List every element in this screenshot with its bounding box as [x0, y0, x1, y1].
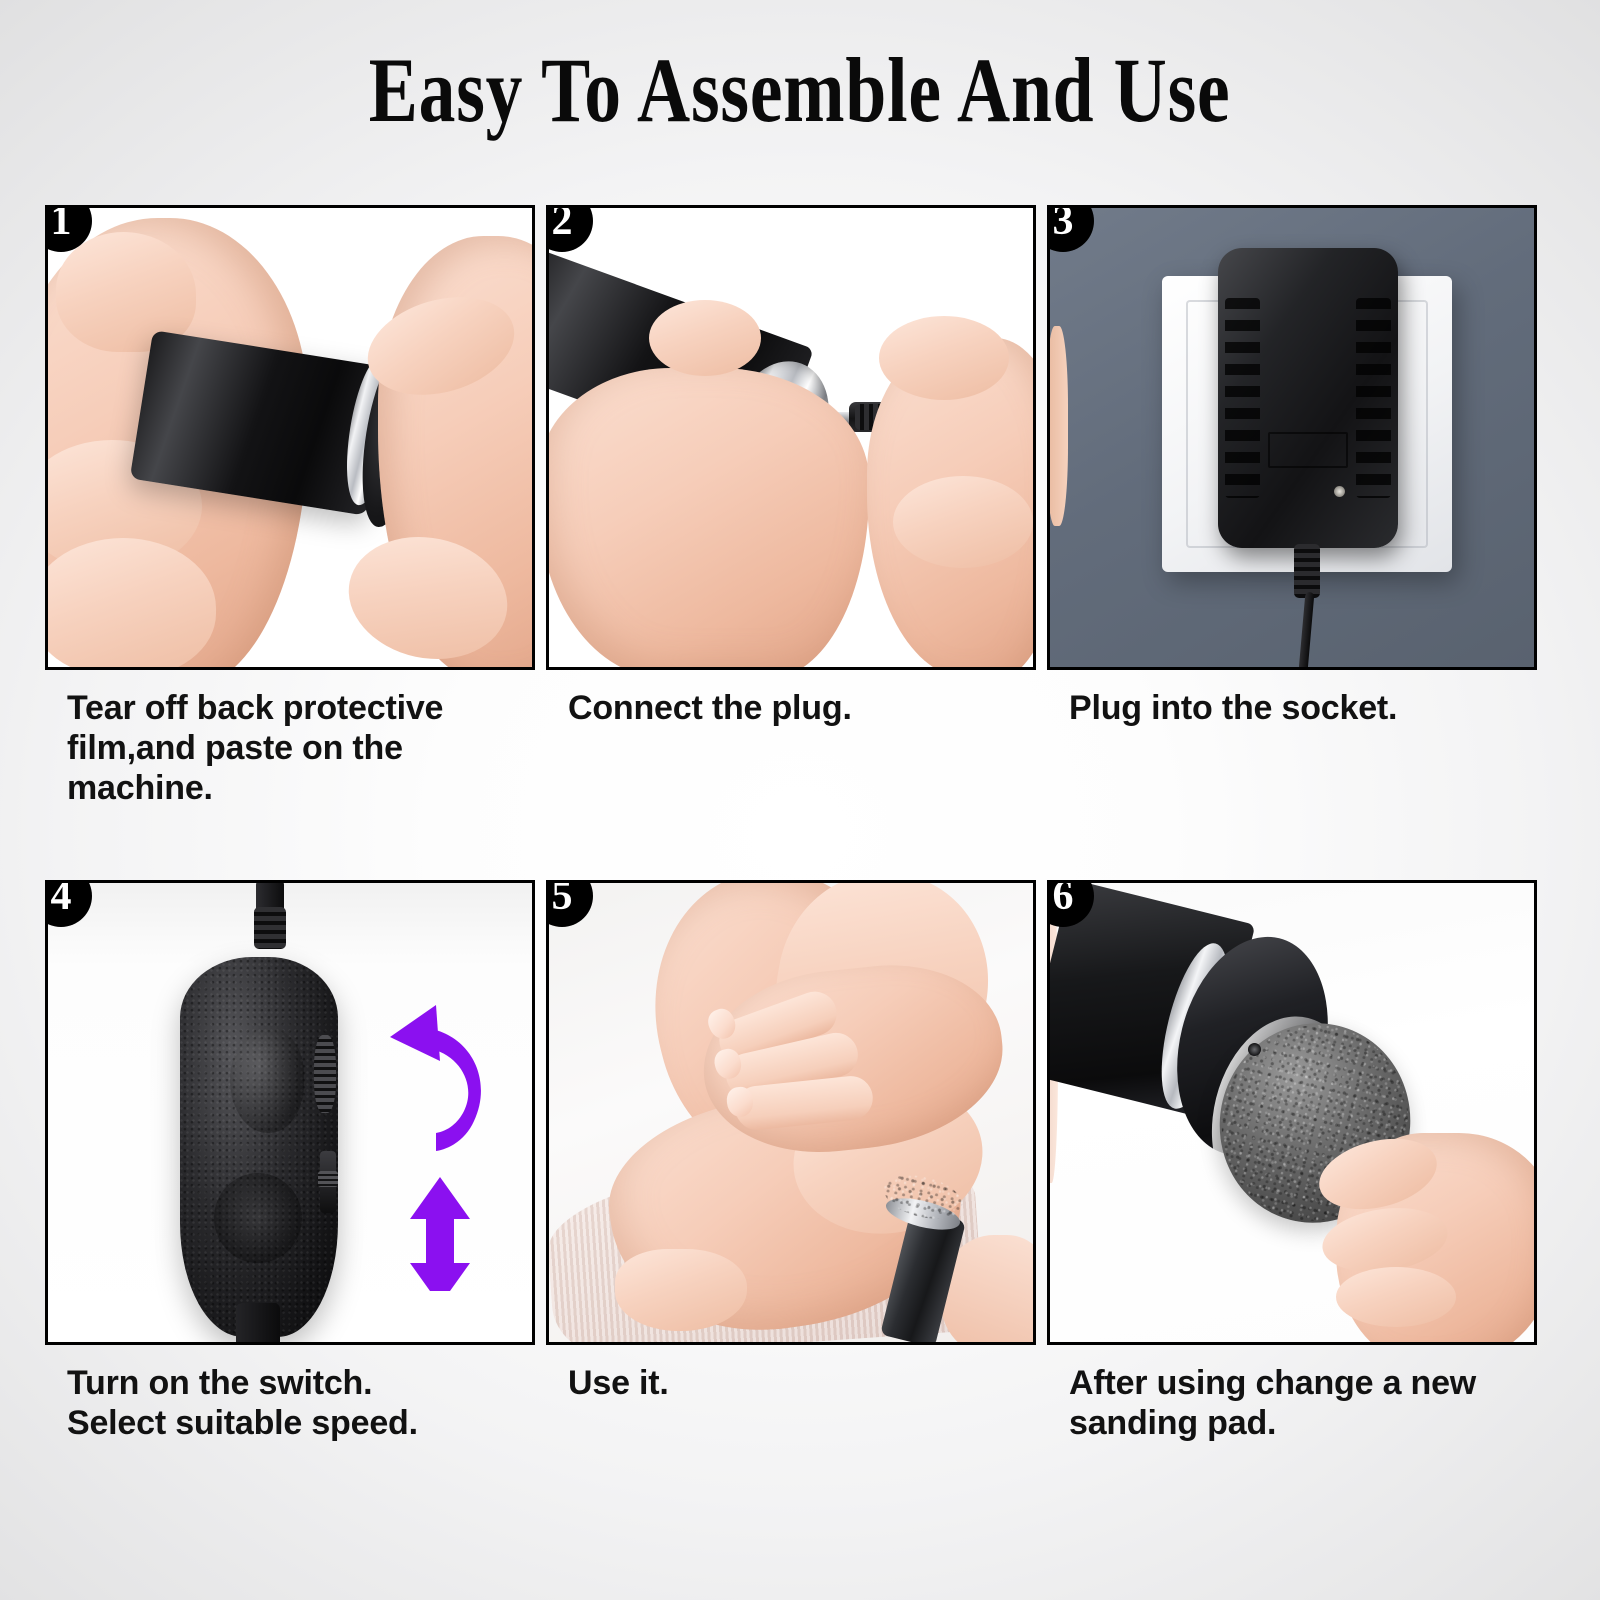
adapter-led: [1334, 486, 1345, 497]
step-caption-5: Use it.: [546, 1345, 1036, 1535]
power-switch-nub: [318, 1171, 338, 1187]
step-card-2: 2: [546, 205, 1036, 670]
grip-pad: [214, 1173, 302, 1263]
thumb-groove: [230, 1029, 304, 1133]
step-card-6: 6: [1047, 880, 1537, 1345]
step-badge-2: 2: [546, 205, 593, 252]
rotate-arrow: [390, 1005, 481, 1151]
page-title: Easy To Assemble And Use: [369, 44, 1231, 136]
speed-dial: [314, 1035, 336, 1113]
steps-grid: 1 2: [45, 205, 1537, 1535]
holder-screw: [1248, 1043, 1261, 1056]
cable-strain-relief: [1294, 544, 1320, 598]
step-image-5: 5: [546, 880, 1036, 1345]
step-image-2: 2: [546, 205, 1036, 670]
step-card-3: 3: [1047, 205, 1537, 670]
step-caption-1: Tear off back protective film,and paste …: [45, 670, 535, 880]
step-badge-3: 3: [1047, 205, 1094, 252]
adapter-label: [1268, 432, 1348, 468]
step-caption-3: Plug into the socket.: [1047, 670, 1537, 880]
toes: [615, 1249, 747, 1331]
step-image-1: 1: [45, 205, 535, 670]
knuckle: [893, 476, 1033, 568]
slide-arrow: [410, 1177, 470, 1291]
controller-texture: [180, 957, 338, 1337]
cord-strain-relief: [254, 907, 286, 949]
adapter-vents-right: [1356, 298, 1391, 498]
finger: [1336, 1267, 1456, 1327]
step-badge-4: 4: [45, 880, 92, 927]
power-cable: [1299, 592, 1315, 670]
step-caption-2: Connect the plug.: [546, 670, 1036, 880]
controller-tail: [236, 1303, 280, 1345]
knuckle: [649, 300, 761, 376]
step-caption-4: Turn on the switch. Select suitable spee…: [45, 1345, 535, 1535]
step-caption-6: After using change a new sanding pad.: [1047, 1345, 1537, 1535]
hand-edge: [1047, 326, 1068, 526]
annotation-arrows: [344, 991, 514, 1291]
step-card-1: 1: [45, 205, 535, 670]
knuckle: [879, 316, 1009, 400]
header: Easy To Assemble And Use: [0, 0, 1600, 180]
step-card-4: 4: [45, 880, 535, 1345]
step-image-6: 6: [1047, 880, 1537, 1345]
adapter-vents-left: [1225, 298, 1260, 498]
step-card-5: 5: [546, 880, 1036, 1345]
step-image-3: 3: [1047, 205, 1537, 670]
step-image-4: 4: [45, 880, 535, 1345]
step-badge-5: 5: [546, 880, 593, 927]
left-hand: [546, 368, 869, 670]
